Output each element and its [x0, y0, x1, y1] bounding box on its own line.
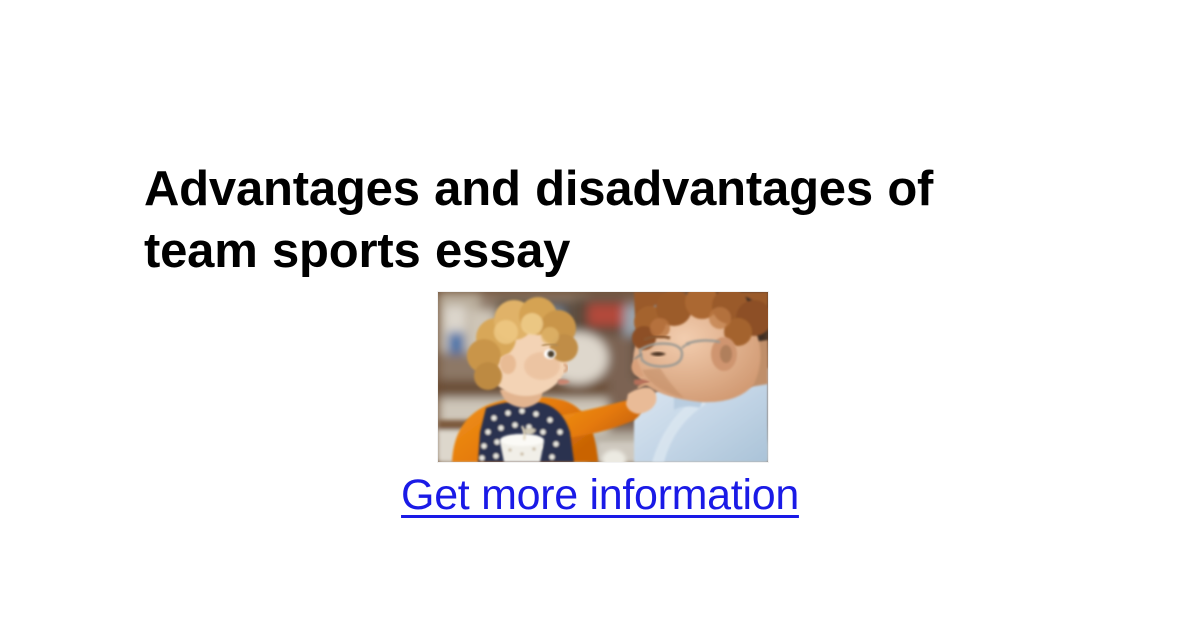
get-more-information-link[interactable]: Get more information — [401, 471, 799, 519]
link-row: Get more information — [0, 470, 1200, 520]
page-canvas: Advantages and disadvantages of team spo… — [0, 0, 1200, 630]
page-title: Advantages and disadvantages of team spo… — [144, 158, 1044, 282]
hero-image — [438, 292, 768, 462]
photo-adult — [631, 292, 768, 462]
hero-image-illustration — [438, 292, 768, 462]
